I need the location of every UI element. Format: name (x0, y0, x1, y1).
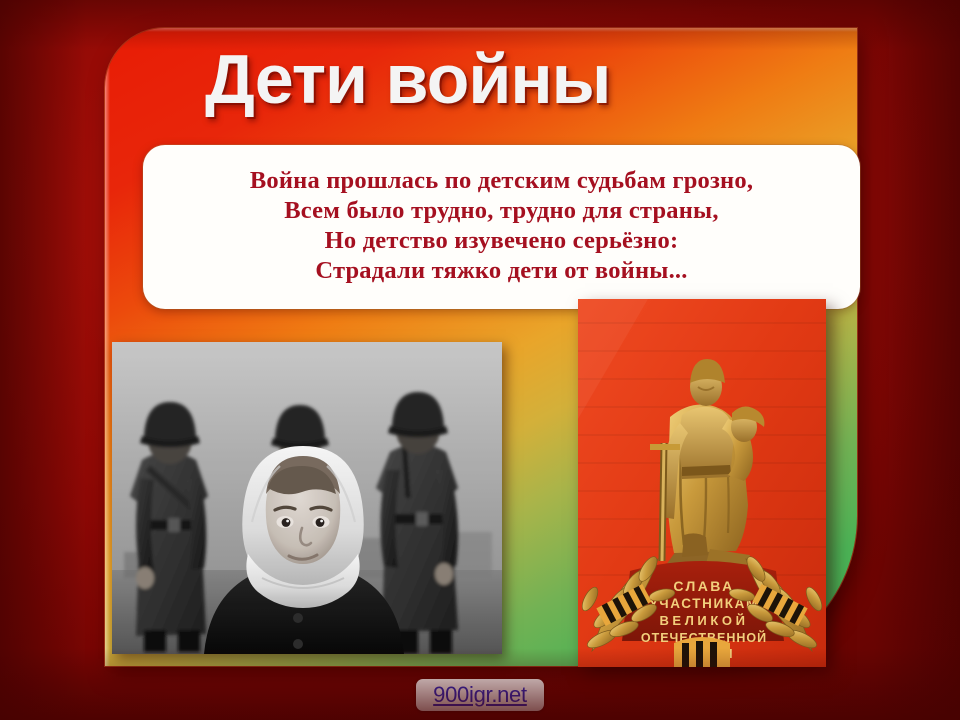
watermark-link[interactable]: 900igr.net (416, 679, 544, 711)
photo-illustration (112, 342, 502, 654)
poster-soviet-memorial: СЛАВА УЧАСТНИКАМ ВЕЛИКОЙ ОТЕЧЕСТВЕННОЙ В… (578, 299, 826, 667)
poem-text: Война прошлась по детским судьбам грозно… (250, 166, 753, 288)
poem-card: Война прошлась по детским судьбам грозно… (143, 145, 860, 309)
watermark-label: 900igr.net (433, 682, 527, 708)
poster-illustration: СЛАВА УЧАСТНИКАМ ВЕЛИКОЙ ОТЕЧЕСТВЕННОЙ В… (578, 299, 826, 667)
slide-title: Дети войны (205, 36, 825, 122)
slide-canvas: Дети войны Война прошлась по детским суд… (0, 0, 960, 720)
photo-child-with-soldiers (112, 342, 502, 654)
